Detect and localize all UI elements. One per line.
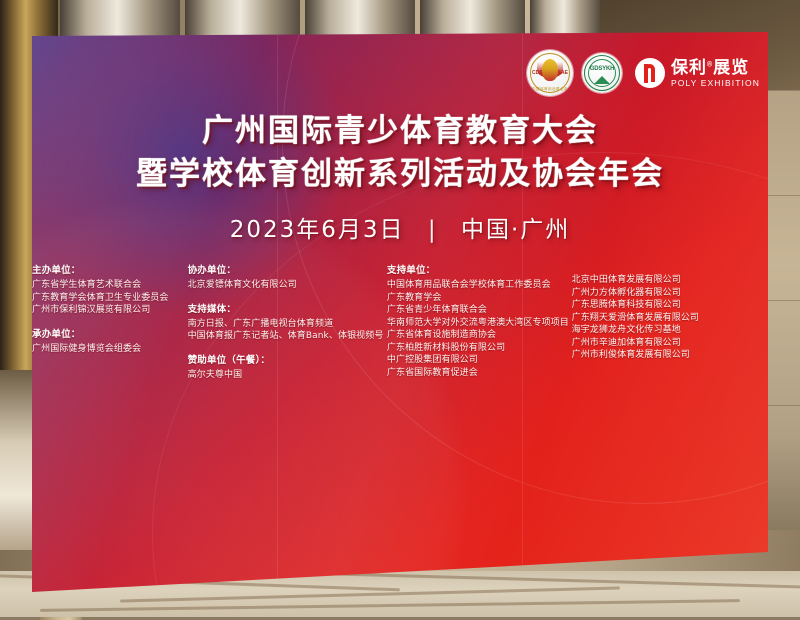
sponsor-item: 南方日报、广东广播电视台体育频道 xyxy=(188,318,387,331)
headline-block: 广州国际青少体育教育大会 暨学校体育创新系列活动及协会年会 2023年6月3日 … xyxy=(32,110,768,244)
poly-logo-en: POLY EXHIBITION xyxy=(671,79,760,88)
sponsor-item: 广东教育学会体育卫生专业委员会 xyxy=(32,292,188,305)
sponsor-group: 主办单位： 广东省学生体育艺术联合会 广东教育学会体育卫生专业委员会 广州市保利… xyxy=(32,262,188,317)
carpet-stripe xyxy=(330,572,800,588)
sponsor-item: 广东省学生体育艺术联合会 xyxy=(32,279,188,292)
poly-p-icon xyxy=(635,58,665,88)
sponsor-item: 广州市保利锦汉展览有限公司 xyxy=(32,304,188,317)
sponsor-item: 中国体育用品联合会学校体育工作委员会 xyxy=(387,279,572,292)
poly-cn-2: 展览 xyxy=(713,58,749,77)
sponsor-item: 广东省体育设施制造商协会 xyxy=(387,329,572,342)
poly-exhibition-logo: 保利®展览 POLY EXHIBITION xyxy=(635,58,760,88)
emblem-text: GDSYKH xyxy=(582,66,622,72)
sponsor-column-4: 北京中田体育发展有限公司 广州力方体孵化器有限公司 广东思腾体育科技有限公司 广… xyxy=(572,262,732,390)
sponsor-item: 广州市辛迪加体育有限公司 xyxy=(572,337,732,350)
sponsor-item: 广东思腾体育科技有限公司 xyxy=(572,299,732,312)
sponsor-item: 中广控股集团有限公司 xyxy=(387,354,572,367)
event-date-location: 2023年6月3日 | 中国·广州 xyxy=(32,210,768,244)
sponsor-item: 广州市利俊体育发展有限公司 xyxy=(572,349,732,362)
sponsor-group: 协办单位： 北京爱镖体育文化有限公司 xyxy=(188,262,387,292)
sponsor-group: 支持媒体： 南方日报、广东广播电视台体育频道 中国体育报广东记者站、体育Bank… xyxy=(188,301,387,343)
emblem-ring-text: 中国体育用品联合会 xyxy=(527,87,573,92)
sponsor-column-2: 协办单位： 北京爱镖体育文化有限公司 支持媒体： 南方日报、广东广播电视台体育频… xyxy=(188,262,387,390)
gdsykh-emblem-icon: GDSYKH xyxy=(582,53,622,93)
sponsor-item: 高尔夫尊中国 xyxy=(188,369,387,382)
sponsor-item: 广州力方体孵化器有限公司 xyxy=(572,287,732,300)
sponsor-item: 北京爱镖体育文化有限公司 xyxy=(188,279,387,292)
sponsor-item: 华南师范大学对外交流粤港澳大湾区专项项目 xyxy=(387,317,572,330)
poly-logo-cn: 保利®展览 xyxy=(671,59,760,76)
sponsor-item: 广东翔天爱滑体育发展有限公司 xyxy=(572,312,732,325)
sponsor-columns: 主办单位： 广东省学生体育艺术联合会 广东教育学会体育卫生专业委员会 广州市保利… xyxy=(32,262,732,390)
sponsor-column-3: 支持单位： 中国体育用品联合会学校体育工作委员会 广东教育学会 广东省青少年体育… xyxy=(387,262,572,390)
sponsor-item: 广东教育学会 xyxy=(387,292,572,305)
event-date: 2023年6月3日 xyxy=(230,217,405,243)
cds-sae-emblem-icon: CDS SAE 中国体育用品联合会 xyxy=(527,50,573,96)
sponsor-item: 中国体育报广东记者站、体育Bank、体银视频号 xyxy=(188,330,387,343)
emblem-flame xyxy=(542,59,558,81)
sponsor-item: 广东省青少年体育联合会 xyxy=(387,304,572,317)
sponsor-item: 广东柏胜新材料股份有限公司 xyxy=(387,342,572,355)
sponsor-item: 广东省国际教育促进会 xyxy=(387,367,572,380)
sponsor-item: 北京中田体育发展有限公司 xyxy=(572,274,732,287)
sponsor-group-title: 赞助单位（午餐）： xyxy=(188,352,387,366)
divider: | xyxy=(428,217,438,243)
sponsor-group-title: 支持单位： xyxy=(387,262,572,276)
sponsor-group: 北京中田体育发展有限公司 广州力方体孵化器有限公司 广东思腾体育科技有限公司 广… xyxy=(572,262,732,362)
sponsor-item: 海宇龙狮龙舟文化传习基地 xyxy=(572,324,732,337)
poly-cn-1: 保利 xyxy=(671,58,707,77)
sponsor-group-title: 协办单位： xyxy=(188,262,387,276)
sponsor-group-title: 承办单位： xyxy=(32,326,188,340)
event-location: 中国·广州 xyxy=(461,217,570,243)
sponsor-item: 广州国际健身博览会组委会 xyxy=(32,343,188,356)
emblem-text-right: SAE xyxy=(558,70,568,76)
sponsor-group: 赞助单位（午餐）： 高尔夫尊中国 xyxy=(188,352,387,382)
emblem-text-left: CDS xyxy=(532,70,543,76)
sponsor-group: 支持单位： 中国体育用品联合会学校体育工作委员会 广东教育学会 广东省青少年体育… xyxy=(387,262,572,379)
sponsor-column-1: 主办单位： 广东省学生体育艺术联合会 广东教育学会体育卫生专业委员会 广州市保利… xyxy=(32,262,188,390)
sponsor-group: 承办单位： 广州国际健身博览会组委会 xyxy=(32,326,188,356)
emblem-mountain xyxy=(594,76,610,84)
headline-line-1: 广州国际青少体育教育大会 xyxy=(32,110,768,152)
logo-bar: CDS SAE 中国体育用品联合会 GDSYKH 保利®展览 POLY EXHI… xyxy=(527,50,760,96)
sponsor-group-title: 支持媒体： xyxy=(188,301,387,315)
headline-line-2: 暨学校体育创新系列活动及协会年会 xyxy=(32,152,768,196)
poly-wordmark: 保利®展览 POLY EXHIBITION xyxy=(671,59,760,88)
sponsor-group-title: 主办单位： xyxy=(32,262,188,276)
